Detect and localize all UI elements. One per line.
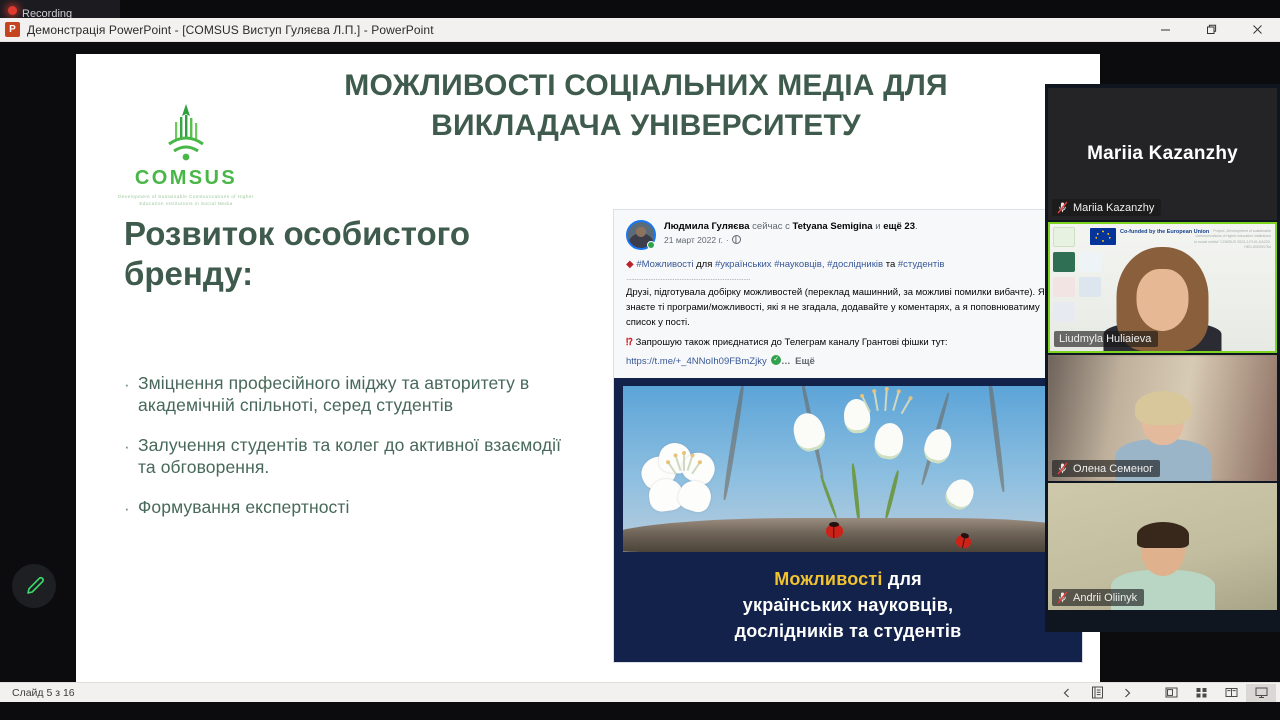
- slide-show-area: COMSUS Development of Sustainable Commun…: [0, 42, 1280, 682]
- post-link-row: https://t.me/+_4NNoIh09FBmZjky ✓… Ещё: [626, 351, 1070, 369]
- list-item: · Зміцнення професійного іміджу та автор…: [124, 372, 574, 416]
- caption-line-1: Можливості для: [641, 566, 1055, 592]
- slide-title: МОЖЛИВОСТІ СОЦІАЛЬНИХ МЕДІА ДЛЯ ВИКЛАДАЧ…: [296, 66, 996, 146]
- restore-button[interactable]: [1188, 18, 1234, 42]
- post-connector-1: сейчас с: [752, 221, 790, 232]
- view-switcher: [1156, 684, 1276, 702]
- bullet-dot-icon: ·: [124, 372, 138, 416]
- title-bar: P Демонстрація PowerPoint - [COMSUS Вист…: [0, 18, 1280, 42]
- current-slide: COMSUS Development of Sustainable Commun…: [76, 54, 1100, 682]
- video-conference-panel: Mariia Kazanzhy Mariia Kazanzhy: [1045, 84, 1280, 632]
- gem-emoji-icon: ◆: [626, 259, 634, 270]
- participant-name: Mariia Kazanzhy: [1073, 202, 1154, 214]
- post-meta: 21 март 2022 г. ·: [664, 235, 1070, 245]
- online-status-icon: [647, 241, 655, 249]
- microphone-muted-icon: [1057, 462, 1068, 475]
- microphone-muted-icon: [1057, 201, 1068, 214]
- post-byline: Людмила Гуляєва сейчас с Tetyana Semigin…: [664, 220, 1070, 234]
- powerpoint-icon: P: [5, 22, 20, 37]
- participant-name: Andrii Oliinyk: [1073, 592, 1137, 604]
- participant-label: Олена Семеног: [1052, 460, 1160, 477]
- post-invite-line: ⁉ Запрошую також приєднатися до Телеграм…: [626, 336, 1070, 351]
- hashtag-2[interactable]: #українських: [715, 259, 772, 270]
- hashtag-4[interactable]: #дослідників: [827, 259, 883, 270]
- list-item: · Формування експертності: [124, 496, 574, 519]
- video-tile-participant-4[interactable]: Andrii Oliinyk: [1048, 483, 1277, 610]
- previous-slide-button[interactable]: [1052, 684, 1082, 702]
- minimize-button[interactable]: [1142, 18, 1188, 42]
- view-normal-button[interactable]: [1156, 684, 1186, 702]
- bullet-dot-icon: ·: [124, 434, 138, 478]
- post-ellipsis: …: [781, 356, 791, 367]
- close-button[interactable]: [1234, 18, 1280, 42]
- recording-indicator: Recording: [0, 0, 120, 20]
- chevron-right-icon: [1121, 687, 1133, 699]
- bullet-text: Залучення студентів та колег до активної…: [138, 434, 574, 478]
- hashtag-3[interactable]: #науковців,: [774, 259, 824, 270]
- telegram-link[interactable]: https://t.me/+_4NNoIh09FBmZjky: [626, 356, 767, 367]
- cherry-blossom-photo: [623, 386, 1073, 552]
- caption-rest: для: [888, 569, 922, 589]
- post-connector-2: и: [875, 221, 880, 232]
- bullet-text: Зміцнення професійного іміджу та авторит…: [138, 372, 574, 416]
- desktop-bottom-strip: [0, 702, 1280, 720]
- avatar: [626, 220, 656, 250]
- bullet-dot-icon: ·: [124, 496, 138, 519]
- powerpoint-window: P Демонстрація PowerPoint - [COMSUS Вист…: [0, 18, 1280, 702]
- participant-label: Andrii Oliinyk: [1052, 589, 1144, 606]
- window-title: Демонстрація PowerPoint - [COMSUS Виступ…: [27, 23, 1142, 37]
- hashtag-5[interactable]: #студентів: [898, 259, 945, 270]
- comsus-wordmark: COMSUS: [116, 167, 256, 190]
- video-tile-active-speaker[interactable]: Co-funded by the European Union Project …: [1048, 222, 1277, 353]
- bullet-text: Формування експертності: [138, 496, 350, 519]
- notes-button[interactable]: [1082, 684, 1112, 702]
- view-reading-button[interactable]: [1216, 684, 1246, 702]
- caption-line-2: українських науковців,: [641, 592, 1055, 618]
- pen-icon: [23, 575, 45, 597]
- slideshow-icon: [1255, 686, 1268, 699]
- bullet-list: · Зміцнення професійного іміджу та автор…: [124, 372, 574, 537]
- media-caption: Можливості для українських науковців, до…: [623, 552, 1073, 648]
- hashtag-1[interactable]: #Можливості: [636, 259, 693, 270]
- section-heading: Розвиток особистого бренду:: [124, 214, 544, 293]
- spotlight-participant-name: Mariia Kazanzhy: [1087, 143, 1238, 165]
- globe-icon: [732, 235, 741, 244]
- video-tile-spotlight[interactable]: Mariia Kazanzhy Mariia Kazanzhy: [1048, 88, 1277, 220]
- comsus-logo-mark-icon: [116, 102, 256, 164]
- annotation-pen-button[interactable]: [12, 564, 56, 608]
- caption-highlight: Можливості: [774, 569, 882, 589]
- list-item: · Залучення студентів та колег до активн…: [124, 434, 574, 478]
- hashtag-word-2: та: [886, 259, 896, 270]
- participant-name: Liudmyla Huliaieva: [1059, 333, 1151, 345]
- chevron-left-icon: [1061, 687, 1073, 699]
- post-tagged-person: Tetyana Semigina: [793, 221, 873, 232]
- comsus-logo: COMSUS Development of Sustainable Commun…: [116, 102, 256, 208]
- video-tile-participant-3[interactable]: Олена Семеног: [1048, 355, 1277, 481]
- post-paragraph: Друзі, підготувала добірку можливостей (…: [626, 286, 1070, 330]
- post-others-count: ещё 23: [883, 221, 915, 232]
- participant-name: Олена Семеног: [1073, 463, 1153, 475]
- post-divider: ........................................…: [626, 274, 1070, 283]
- tree-branch: [623, 518, 1073, 552]
- comsus-tagline: Development of Sustainable Communication…: [116, 193, 256, 208]
- post-hashtag-line: ◆ #Можливості для #українських #науковці…: [626, 257, 1070, 272]
- notes-icon: [1091, 686, 1104, 699]
- verified-check-icon: ✓: [771, 355, 781, 365]
- post-body: ◆ #Можливості для #українських #науковці…: [614, 257, 1082, 378]
- participant-label: Mariia Kazanzhy: [1052, 199, 1161, 216]
- meta-separator: ·: [726, 235, 729, 245]
- status-bar: Слайд 5 з 16: [0, 682, 1280, 702]
- post-header: Людмила Гуляєва сейчас с Tetyana Semigin…: [614, 210, 1082, 257]
- interrobang-emoji-icon: ⁉: [626, 337, 633, 348]
- hashtag-word-1: для: [696, 259, 712, 270]
- recording-dot-icon: [8, 6, 17, 15]
- reading-view-icon: [1225, 686, 1238, 699]
- facebook-post-card: Людмила Гуляєва сейчас с Tetyana Semigin…: [613, 209, 1083, 663]
- see-more-button[interactable]: Ещё: [795, 356, 815, 367]
- post-date: 21 март 2022 г.: [664, 235, 723, 245]
- post-media[interactable]: Можливості для українських науковців, до…: [614, 378, 1082, 662]
- post-period: .: [915, 221, 918, 232]
- slide-sorter-icon: [1195, 686, 1208, 699]
- slide-counter: Слайд 5 з 16: [4, 687, 75, 699]
- ladybug-icon: [826, 524, 843, 538]
- participant-label: Liudmyla Huliaieva: [1054, 331, 1158, 347]
- normal-view-icon: [1165, 686, 1178, 699]
- microphone-muted-icon: [1057, 591, 1068, 604]
- post-invite-text: Запрошую також приєднатися до Телеграм к…: [636, 337, 948, 348]
- next-slide-button[interactable]: [1112, 684, 1142, 702]
- navigation-group: [1052, 684, 1142, 702]
- caption-line-3: дослідників та студентів: [641, 618, 1055, 644]
- view-slideshow-button[interactable]: [1246, 684, 1276, 702]
- view-slide-sorter-button[interactable]: [1186, 684, 1216, 702]
- post-author: Людмила Гуляєва: [664, 221, 750, 232]
